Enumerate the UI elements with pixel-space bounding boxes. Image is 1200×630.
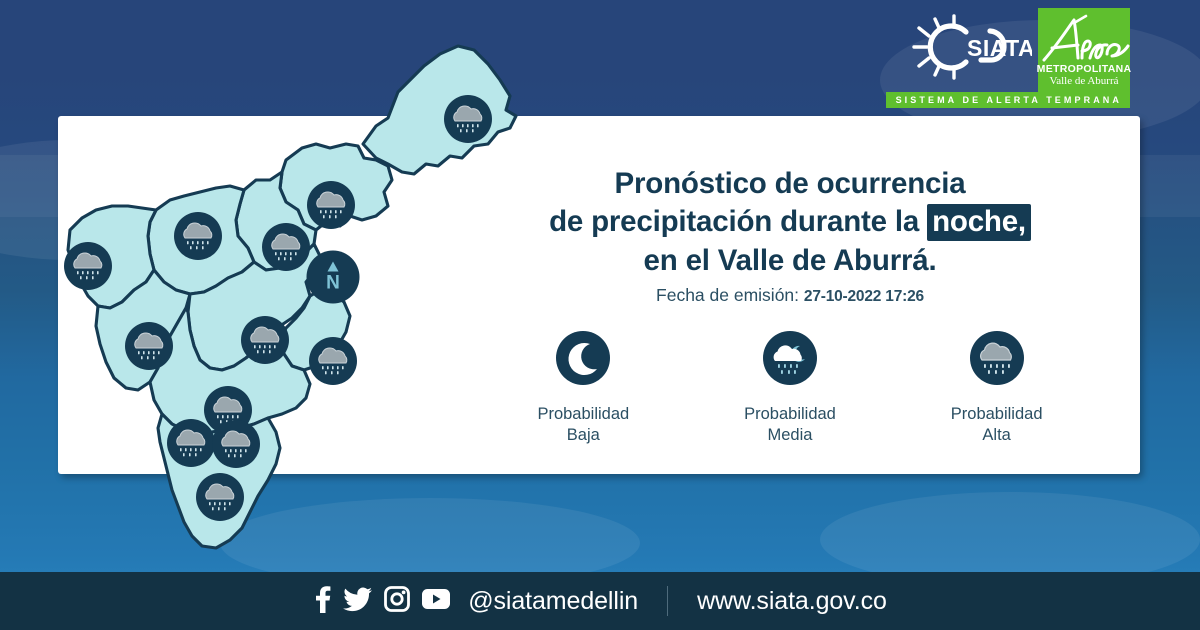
legend-label-baja: Probabilidad Baja [537,404,629,447]
map-marker-bello[interactable] [173,211,223,261]
siata-tagline: SISTEMA DE ALERTA TEMPRANA [886,92,1130,108]
compass-north-icon: N [306,250,361,305]
footer-divider [667,586,668,616]
map-marker-medellin-noroccidental[interactable] [124,321,174,371]
map-marker-la-estrella[interactable] [211,419,261,469]
area-metropolitana-line2: Valle de Aburrá [1049,75,1118,87]
map-marker-sabaneta[interactable] [166,418,216,468]
cloud-rain-moon-icon [762,330,818,391]
valle-de-aburra-map: N [58,40,528,575]
legend-label-alta: Probabilidad Alta [951,404,1043,447]
cloud-rain-icon [969,330,1025,391]
moon-icon [555,330,611,391]
legend-label-media: Probabilidad Media [744,404,836,447]
twitter-icon[interactable] [343,586,373,617]
legend-item-alta: Probabilidad Alta [909,330,1084,447]
legend-item-baja: Probabilidad Baja [496,330,671,447]
compass-label: N [326,273,340,294]
headline-line-2: de precipitación durante la noche, [470,203,1110,241]
headline-highlight-noche: noche, [927,204,1031,241]
social-icons [313,585,451,618]
emission-date-value: 27-10-2022 17:26 [804,288,924,305]
infographic-root: SIATA METROPOLITANA Valle de Aburrá [0,0,1200,630]
svg-text:SIATA: SIATA [967,35,1032,61]
social-handle[interactable]: @siatamedellin [468,587,638,616]
map-marker-caldas[interactable] [195,472,245,522]
map-marker-barbosa[interactable] [443,94,493,144]
legend-label-alta-line1: Probabilidad [951,404,1043,425]
emission-date-label: Fecha de emisión: [656,285,799,305]
legend-item-media: Probabilidad Media [702,330,877,447]
emission-date: Fecha de emisión: 27-10-2022 17:26 [470,285,1110,306]
headline-line-3: en el Valle de Aburrá. [470,242,1110,280]
map-marker-copacabana[interactable] [261,222,311,272]
logo-group: SIATA METROPOLITANA Valle de Aburrá [904,8,1130,92]
youtube-icon[interactable] [421,588,451,615]
map-marker-medellin-centro[interactable] [240,315,290,365]
facebook-icon[interactable] [313,585,332,618]
legend-label-alta-line2: Alta [951,425,1043,446]
legend: Probabilidad Baja [480,330,1100,447]
map-marker-san-pedro[interactable] [63,241,113,291]
legend-label-baja-line1: Probabilidad [537,404,629,425]
area-script-wordmark [1038,14,1130,66]
instagram-icon[interactable] [384,586,410,617]
legend-label-media-line1: Probabilidad [744,404,836,425]
footer-bar: @siatamedellin www.siata.gov.co [0,572,1200,630]
headline-line-2-text: de precipitación durante la [549,205,919,238]
website-url[interactable]: www.siata.gov.co [697,587,887,616]
legend-label-baja-line2: Baja [537,425,629,446]
area-metropolitana-logo: METROPOLITANA Valle de Aburrá [1038,8,1130,92]
siata-logo: SIATA [904,8,1032,86]
map-marker-envigado[interactable] [308,336,358,386]
headline-line-1: Pronóstico de ocurrencia [470,165,1110,203]
map-marker-girardota[interactable] [306,180,356,230]
page-title: Pronóstico de ocurrencia de precipitació… [470,165,1110,280]
legend-label-media-line2: Media [744,425,836,446]
